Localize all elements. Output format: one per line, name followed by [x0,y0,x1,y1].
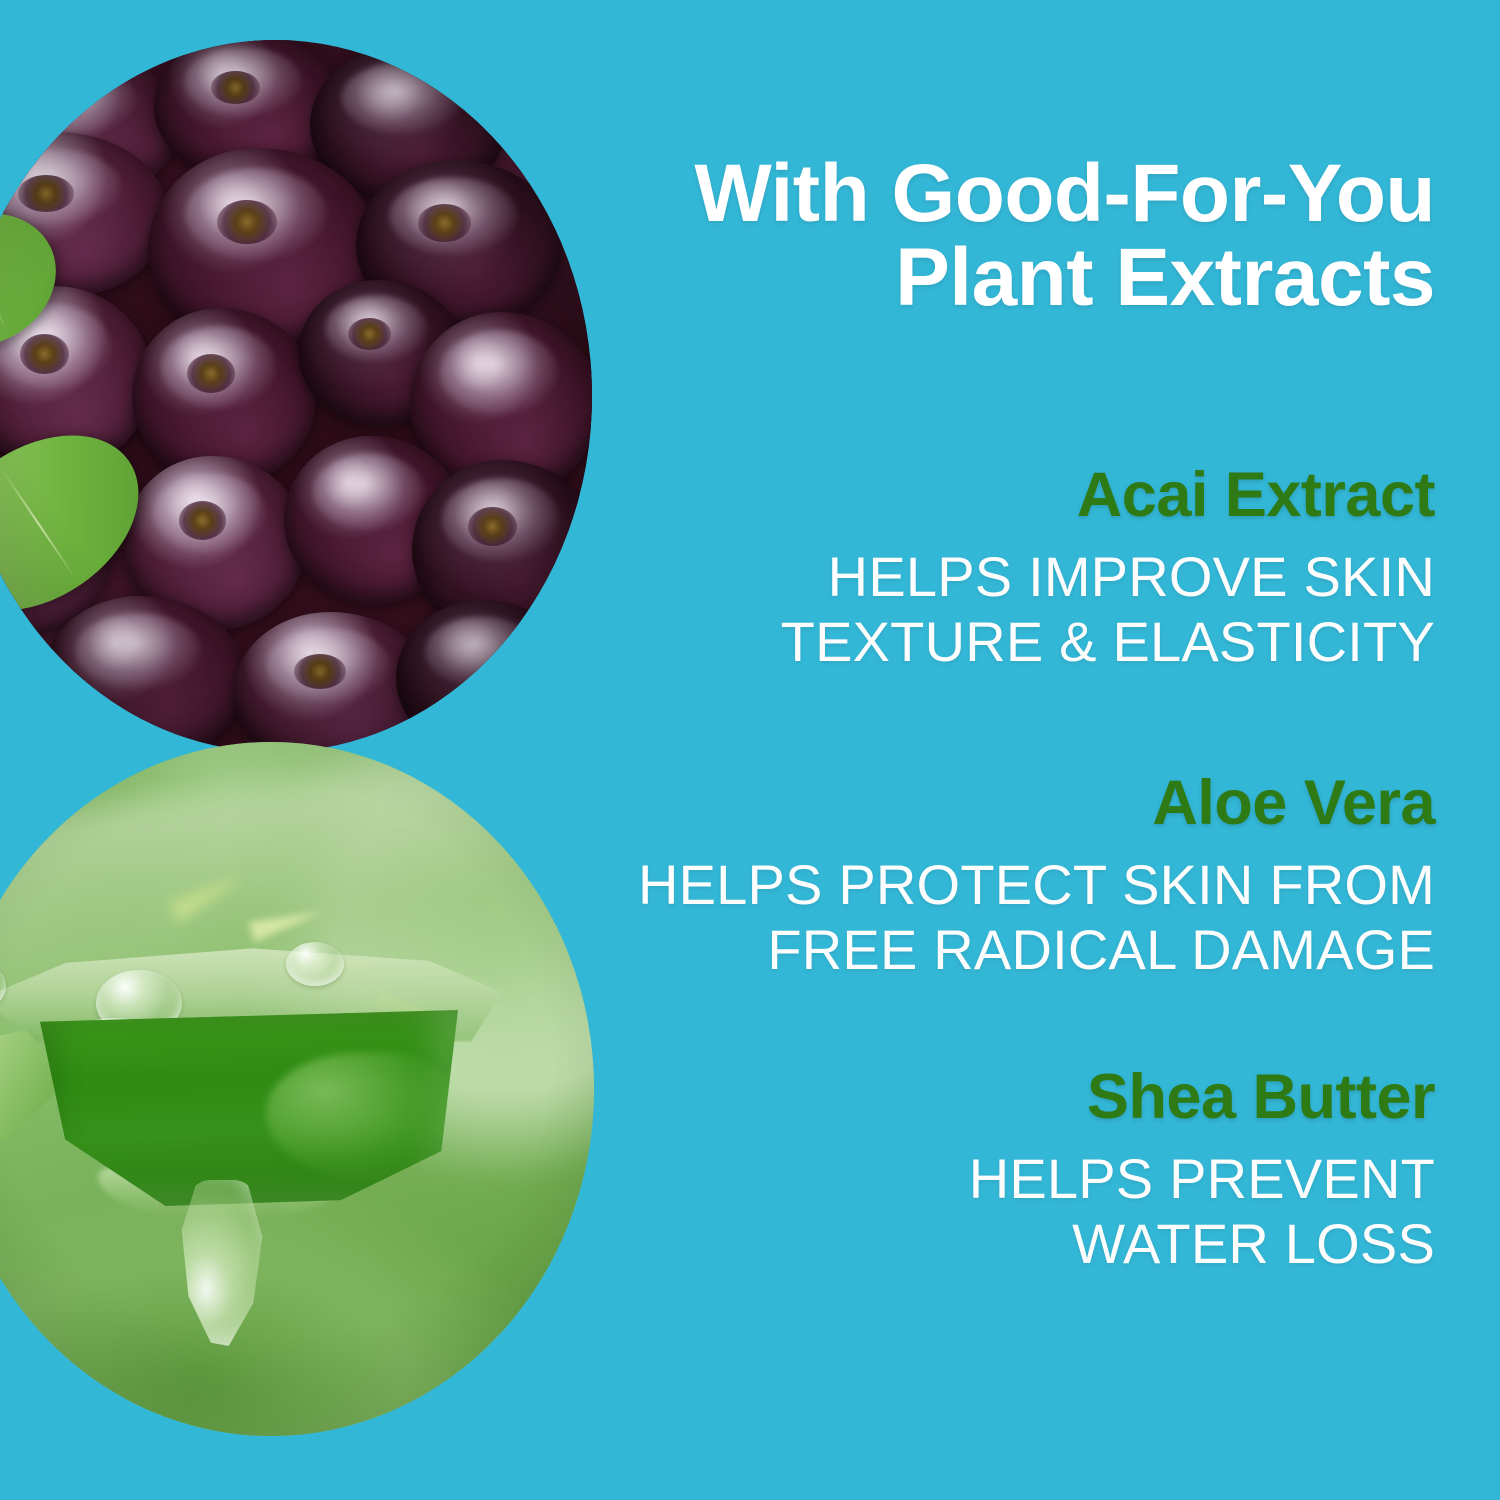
ingredient-benefit: HELPS PROTECT SKIN FROM FREE RADICAL DAM… [587,853,1435,983]
product-ingredient-infographic: With Good-For-You Plant Extracts Acai Ex… [0,0,1500,1500]
aloe-photo-vignette [0,742,594,1436]
ingredient-benefit-line-1: HELPS PREVENT [587,1147,1435,1212]
ingredient-benefit-line-1: HELPS PROTECT SKIN FROM [587,853,1435,918]
ingredient-benefit-line-2: WATER LOSS [587,1212,1435,1277]
ingredient-block-acai: Acai Extract HELPS IMPROVE SKIN TEXTURE … [587,460,1435,674]
ingredient-benefit-line-2: TEXTURE & ELASTICITY [587,610,1435,675]
aloe-vera-photo [0,742,594,1436]
ingredient-benefit-line-1: HELPS IMPROVE SKIN [587,545,1435,610]
copy-column: With Good-For-You Plant Extracts Acai Ex… [587,0,1435,1500]
page-title: With Good-For-You Plant Extracts [587,152,1435,321]
headline-line-1: With Good-For-You [587,152,1435,236]
headline-line-2: Plant Extracts [587,236,1435,320]
ingredient-block-shea-butter: Shea Butter HELPS PREVENT WATER LOSS [587,1062,1435,1276]
ingredient-benefit: HELPS PREVENT WATER LOSS [587,1147,1435,1277]
ingredient-name: Shea Butter [587,1062,1435,1133]
ingredient-benefit: HELPS IMPROVE SKIN TEXTURE & ELASTICITY [587,545,1435,675]
ingredient-name: Acai Extract [587,460,1435,531]
ingredient-name: Aloe Vera [587,768,1435,839]
acai-berries-photo [0,40,592,752]
acai-photo-vignette [0,40,592,752]
ingredient-block-aloe-vera: Aloe Vera HELPS PROTECT SKIN FROM FREE R… [587,768,1435,982]
ingredient-benefit-line-2: FREE RADICAL DAMAGE [587,918,1435,983]
